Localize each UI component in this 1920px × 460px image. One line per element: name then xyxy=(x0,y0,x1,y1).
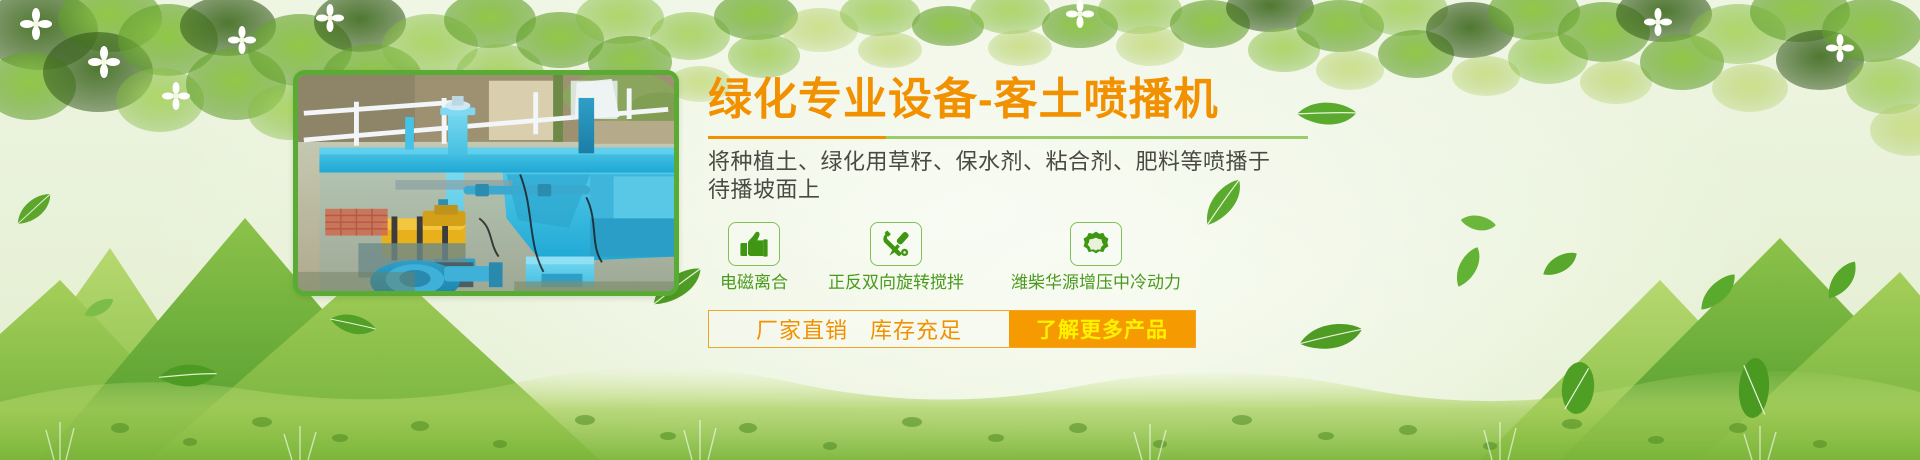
floating-leaf-icon xyxy=(81,296,117,319)
cta-slogan-right: 库存充足 xyxy=(870,313,962,345)
product-photo xyxy=(293,70,679,296)
promo-banner: 绿化专业设备-客土喷播机 将种植土、绿化用草籽、保水剂、粘合剂、肥料等喷播于待播… xyxy=(0,0,1920,460)
cta-bar: 厂家直销 库存充足 了解更多产品 xyxy=(708,310,1196,348)
learn-more-button[interactable]: 了解更多产品 xyxy=(1009,311,1195,347)
feature-item-bidirectional-mixing: 正反双向旋转搅拌 xyxy=(800,222,992,294)
cta-slogan: 厂家直销 库存充足 xyxy=(709,311,1009,347)
tools-icon xyxy=(870,222,922,266)
banner-content: 绿化专业设备-客土喷播机 将种植土、绿化用草籽、保水剂、粘合剂、肥料等喷播于待播… xyxy=(708,72,1488,348)
feature-label: 潍柴华源增压中冷动力 xyxy=(992,272,1200,294)
feature-label: 电磁离合 xyxy=(708,272,800,294)
floating-leaf-icon xyxy=(1723,352,1785,424)
cta-slogan-left: 厂家直销 xyxy=(756,313,848,345)
banner-subtitle: 将种植土、绿化用草籽、保水剂、粘合剂、肥料等喷播于待播坡面上 xyxy=(708,148,1278,204)
feature-label: 正反双向旋转搅拌 xyxy=(800,272,992,294)
title-divider xyxy=(708,136,1308,139)
feature-list: 电磁离合 正反双向旋转搅拌 xyxy=(708,222,1488,294)
thumbs-up-icon xyxy=(728,222,780,266)
feature-item-electromagnetic-clutch: 电磁离合 xyxy=(708,222,800,294)
gear-icon xyxy=(1070,222,1122,266)
feature-item-weichai-power: 潍柴华源增压中冷动力 xyxy=(992,222,1200,294)
page-title: 绿化专业设备-客土喷播机 xyxy=(708,72,1488,128)
